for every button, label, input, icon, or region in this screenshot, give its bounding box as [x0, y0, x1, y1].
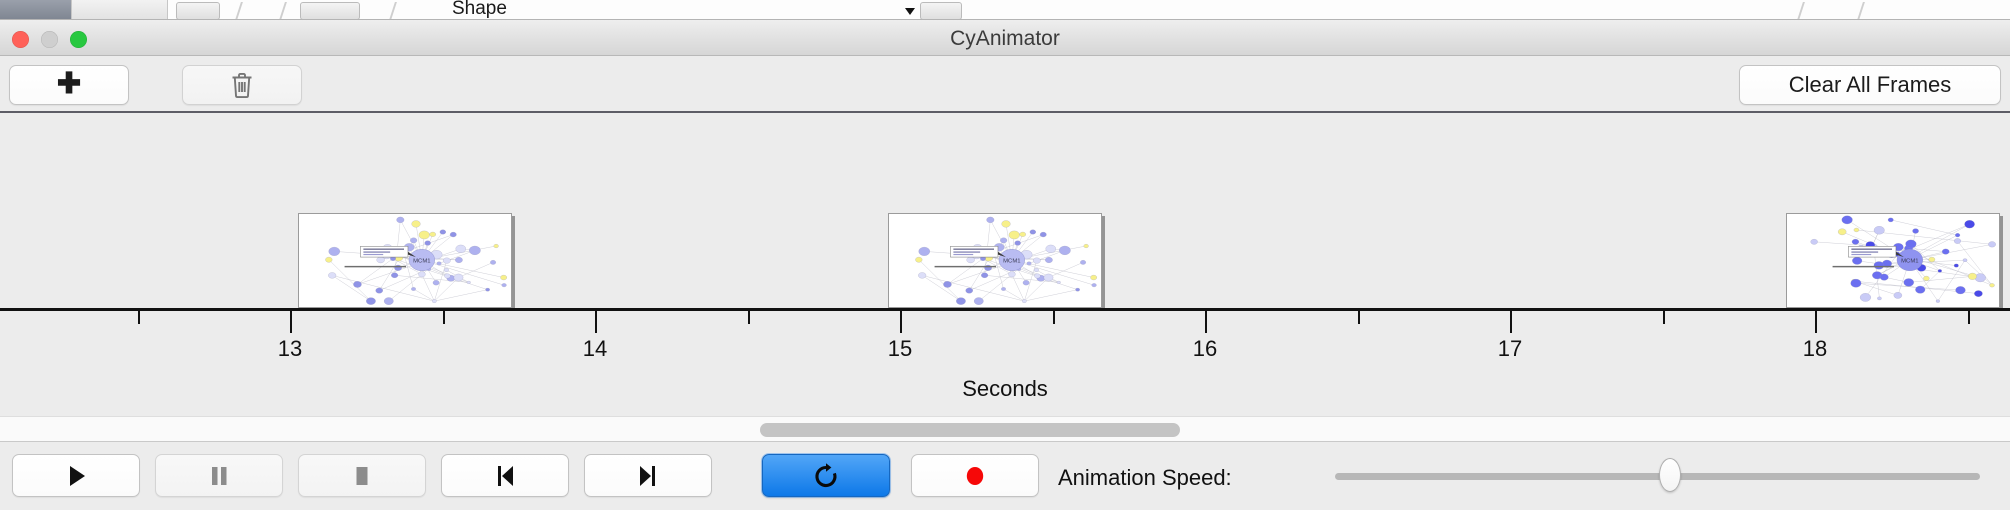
bg-divider	[1857, 2, 1865, 20]
stop-icon	[347, 461, 377, 491]
next-button[interactable]	[584, 454, 712, 497]
ruler-tick-label: 17	[1498, 336, 1522, 362]
background-window-label: Shape	[452, 0, 507, 20]
loop-button[interactable]	[762, 454, 890, 497]
ruler-tick-label: 18	[1803, 336, 1827, 362]
play-icon	[61, 461, 91, 491]
ruler-tick-minor	[1663, 311, 1665, 324]
timeline-frame-thumbnail[interactable]: MCM1	[1786, 213, 2000, 308]
ruler-tick-minor	[1968, 311, 1970, 324]
ruler-tick-major	[1510, 311, 1512, 333]
animation-speed-label: Animation Speed:	[1058, 465, 1232, 491]
transport-bar: Animation Speed:	[0, 443, 2010, 510]
ruler-tick-minor	[748, 311, 750, 324]
bg-tab-active	[0, 0, 72, 20]
axis-title: Seconds	[0, 376, 2010, 402]
bg-segment	[300, 2, 360, 20]
bg-divider	[279, 2, 287, 20]
plus-icon: ✚	[57, 70, 81, 99]
ruler-tick-label: 16	[1193, 336, 1217, 362]
ruler-tick-label: 15	[888, 336, 912, 362]
animation-speed-slider[interactable]	[1335, 465, 1980, 487]
timeline-panel: MCM1MCM1MCM1 12131415161718 Seconds	[0, 111, 2010, 416]
add-frame-button[interactable]: ✚	[9, 65, 129, 105]
bg-segment	[920, 2, 962, 20]
slider-thumb[interactable]	[1659, 458, 1681, 492]
ruler-tick-major	[1205, 311, 1207, 333]
ruler-tick-minor	[443, 311, 445, 324]
ruler-tick-major	[900, 311, 902, 333]
bg-divider	[1797, 2, 1805, 20]
play-button[interactable]	[12, 454, 140, 497]
chevron-down-icon	[905, 8, 915, 15]
ruler-tick-major	[290, 311, 292, 333]
svg-text:MCM1: MCM1	[1901, 259, 1918, 265]
ruler-tick-label: 14	[583, 336, 607, 362]
background-window: Shape	[0, 0, 2010, 20]
ruler-tick-minor	[138, 311, 140, 324]
scrollbar-thumb[interactable]	[760, 423, 1180, 437]
record-icon	[960, 461, 990, 491]
timeline-ruler[interactable]: 12131415161718 Seconds	[0, 308, 2010, 416]
slider-track	[1335, 473, 1980, 480]
bg-divider	[235, 2, 243, 20]
skip-start-icon	[490, 461, 520, 491]
pause-icon	[204, 461, 234, 491]
toolbar: ✚ Clear All Frames	[0, 56, 2010, 111]
svg-text:MCM1: MCM1	[413, 259, 430, 265]
loop-icon	[811, 461, 841, 491]
timeline-frame-thumbnail[interactable]: MCM1	[888, 213, 1102, 308]
window-title: CyAnimator	[0, 27, 2010, 51]
previous-button[interactable]	[441, 454, 569, 497]
svg-text:MCM1: MCM1	[1003, 259, 1020, 265]
bg-segment	[176, 2, 220, 20]
ruler-tick-minor	[1358, 311, 1360, 324]
ruler-tick-minor	[1053, 311, 1055, 324]
ruler-tick-major	[1815, 311, 1817, 333]
title-bar: CyAnimator	[0, 20, 2010, 56]
cyanimator-window: Shape CyAnimator ✚	[0, 0, 2010, 510]
timeline-frame-thumbnail[interactable]: MCM1	[298, 213, 512, 308]
record-button[interactable]	[911, 454, 1039, 497]
bg-divider	[389, 2, 397, 20]
skip-end-icon	[633, 461, 663, 491]
delete-frame-button[interactable]	[182, 65, 302, 105]
ruler-baseline	[0, 308, 2010, 311]
pause-button[interactable]	[155, 454, 283, 497]
stop-button[interactable]	[298, 454, 426, 497]
ruler-tick-label: 13	[278, 336, 302, 362]
timeline-scrollbar[interactable]	[0, 416, 2010, 442]
frames-track[interactable]: MCM1MCM1MCM1	[0, 113, 2010, 308]
clear-all-frames-button[interactable]: Clear All Frames	[1739, 65, 2001, 105]
bg-tab	[72, 0, 168, 20]
trash-icon	[230, 72, 254, 99]
ruler-tick-major	[595, 311, 597, 333]
